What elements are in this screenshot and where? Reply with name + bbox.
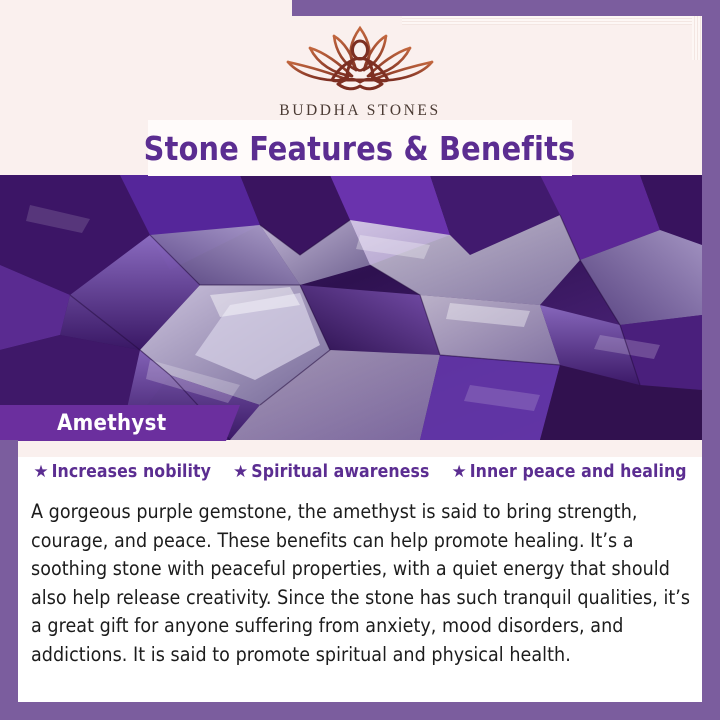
benefit-item-3: ★ Inner peace and healing [451, 462, 686, 482]
frame-left-border [0, 440, 18, 720]
frame-inset-lines-vertical [692, 16, 702, 60]
amethyst-photo [0, 175, 702, 440]
content-panel: ★ Increases nobility ★ Spiritual awarene… [18, 440, 702, 702]
benefit-item-1: ★ Increases nobility [33, 462, 211, 482]
benefit-label: Spiritual awareness [251, 462, 429, 482]
brand-logo: BUDDHA STONES [0, 22, 720, 120]
frame-inset-lines-horizontal [402, 16, 702, 25]
stone-name: Amethyst [57, 411, 166, 436]
frame-top-border [292, 0, 720, 16]
benefit-label: Inner peace and healing [470, 462, 687, 482]
benefit-label: Increases nobility [52, 462, 211, 482]
star-icon: ★ [233, 463, 248, 480]
benefits-row: ★ Increases nobility ★ Spiritual awarene… [18, 462, 702, 482]
lotus-meditation-icon [274, 22, 446, 96]
amethyst-crystal-art [0, 175, 702, 440]
title-banner: Stone Features & Benefits [148, 120, 572, 176]
stone-name-banner: Amethyst [0, 405, 240, 441]
page-title: Stone Features & Benefits [144, 129, 576, 168]
stone-description: A gorgeous purple gemstone, the amethyst… [31, 498, 691, 669]
frame-right-border [702, 0, 720, 720]
frame-bottom-border [0, 702, 720, 720]
promo-card: BUDDHA STONES Stone Features & Benefits [0, 0, 720, 720]
star-icon: ★ [451, 463, 466, 480]
star-icon: ★ [33, 463, 48, 480]
benefit-item-2: ★ Spiritual awareness [233, 462, 429, 482]
brand-name: BUDDHA STONES [0, 102, 720, 120]
content-top-strip [18, 440, 702, 457]
